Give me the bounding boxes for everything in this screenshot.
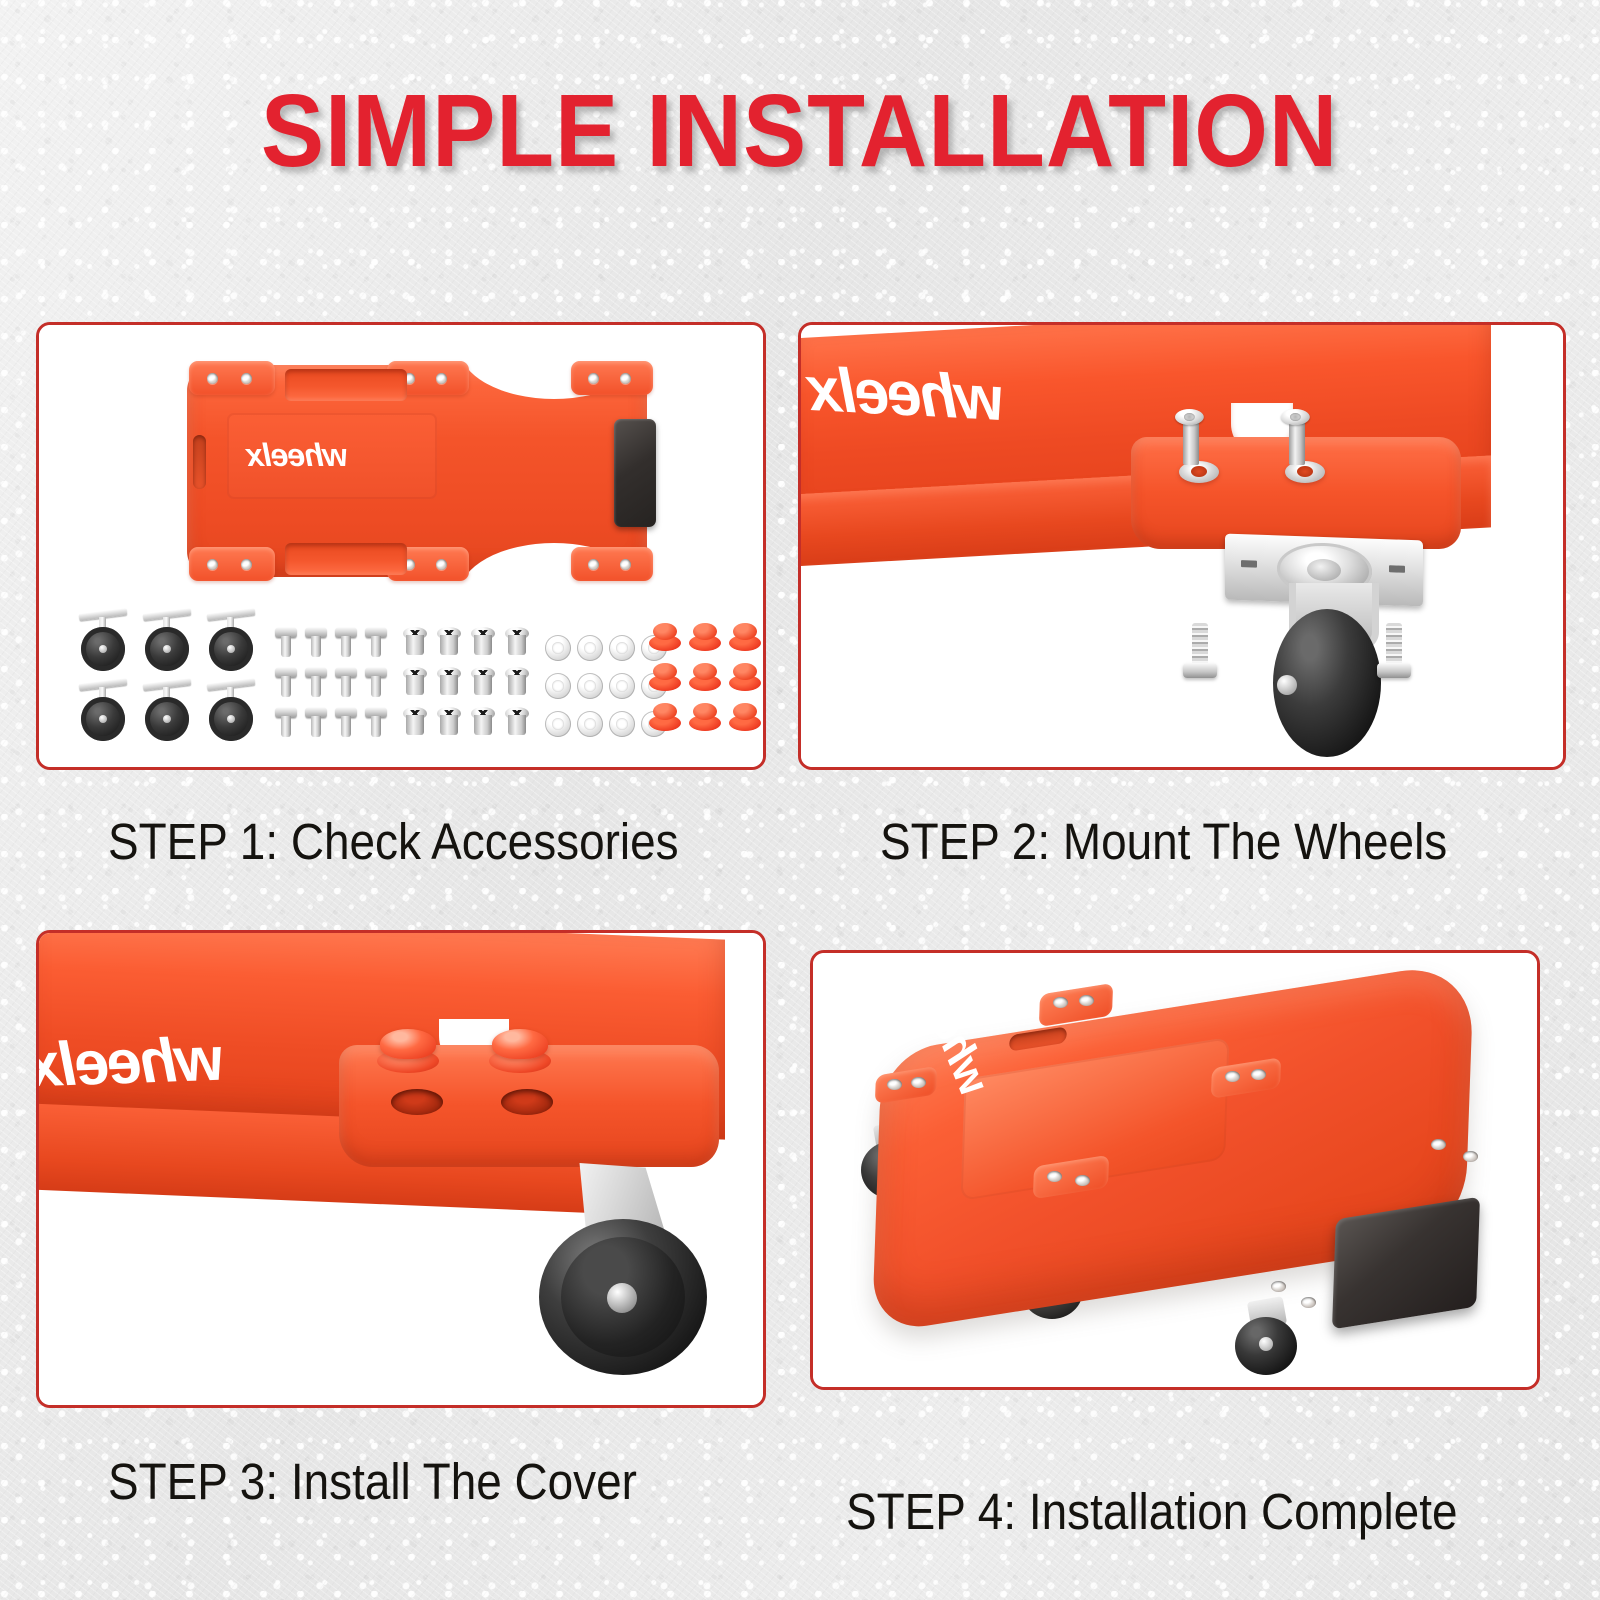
mount-hole — [1075, 1175, 1090, 1186]
bolt-head — [1175, 409, 1204, 425]
loose-bolt — [1183, 623, 1217, 681]
mounting-bolt — [1281, 409, 1313, 465]
caster-wheel-mounted — [1269, 583, 1385, 759]
cap-dome — [653, 623, 677, 640]
screw-shaft — [281, 636, 291, 657]
caster-wheel-part — [141, 681, 193, 739]
bolt-head — [1377, 663, 1411, 678]
cap-dome — [653, 663, 677, 680]
screw-part — [335, 707, 357, 737]
screw-shaft — [371, 676, 381, 697]
mount-hole — [1053, 997, 1068, 1008]
screw-shaft — [311, 636, 321, 657]
washer-part — [609, 673, 635, 699]
bolt-head — [1281, 409, 1310, 425]
open-bolt-hole — [501, 1089, 553, 1115]
red-cap-part — [689, 623, 721, 651]
cap-dome — [693, 703, 717, 720]
red-cap-part — [689, 703, 721, 731]
cap-dome — [733, 703, 757, 720]
step-1-image-panel: wheelx — [36, 322, 766, 770]
caster-hub — [99, 715, 107, 723]
step-4-photo: wheelx — [813, 953, 1537, 1387]
mount-hole — [1225, 1071, 1240, 1082]
mount-hole — [1431, 1139, 1446, 1150]
nut-part — [471, 667, 495, 695]
step-1-photo: wheelx — [39, 325, 763, 767]
nut-body — [440, 715, 458, 735]
nut-body — [406, 715, 424, 735]
screw-shaft — [281, 716, 291, 737]
nut-part — [403, 667, 427, 695]
bolt-shank — [1289, 421, 1305, 465]
finished-creeper: wheelx — [853, 975, 1513, 1375]
accessory-kit — [53, 605, 753, 755]
mount-pad-top-left — [189, 361, 275, 395]
mount-hole — [436, 559, 447, 570]
step-3-caption: STEP 3: Install The Cover — [108, 1452, 637, 1511]
mount-hole — [620, 559, 631, 570]
washer-part — [545, 673, 571, 699]
cap-dome — [380, 1029, 436, 1059]
mount-hole — [1301, 1297, 1316, 1308]
mount-hole — [207, 559, 218, 570]
mount-hole — [436, 373, 447, 384]
screw-shaft — [281, 676, 291, 697]
mount-hole — [887, 1079, 902, 1090]
nut-body — [406, 675, 424, 695]
screw-shaft — [341, 716, 351, 737]
nut-part — [471, 707, 495, 735]
cap-dome — [693, 663, 717, 680]
mount-hole — [1251, 1069, 1266, 1080]
screw-shaft — [311, 716, 321, 737]
screw-shaft — [341, 636, 351, 657]
screw-part — [335, 627, 357, 657]
washer-part — [577, 635, 603, 661]
cap-dome — [492, 1029, 548, 1059]
mount-hole — [911, 1077, 926, 1088]
nut-body — [474, 715, 492, 735]
bolt-thread — [1386, 623, 1402, 667]
bolt-thread — [1192, 623, 1208, 667]
plate-bolt-slot — [1241, 560, 1257, 568]
screw-part — [365, 627, 387, 657]
caster-wheel-mounted — [539, 1163, 711, 1375]
red-cap-part — [729, 623, 761, 651]
recessed-tray-top — [285, 369, 407, 401]
plate-bolt-slot — [1389, 565, 1405, 573]
cap-dome — [693, 623, 717, 640]
screw-part — [365, 667, 387, 697]
washer-part — [545, 711, 571, 737]
red-cap-part — [649, 663, 681, 691]
step-2-photo: wheelx — [801, 325, 1563, 767]
mount-hole — [1047, 1171, 1062, 1182]
mount-pad-top-right — [571, 361, 653, 395]
caster-wheel-part — [77, 611, 129, 669]
mount-hole — [241, 559, 252, 570]
caster-wheel-part — [205, 611, 257, 669]
caster-axle — [607, 1283, 637, 1313]
mount-pad-bottom-right — [571, 547, 653, 581]
nut-part — [403, 627, 427, 655]
nut-body — [474, 635, 492, 655]
caster-axle — [1277, 675, 1297, 695]
open-bolt-hole — [391, 1089, 443, 1115]
mount-hole — [588, 373, 599, 384]
nut-body — [474, 675, 492, 695]
washer-part — [577, 711, 603, 737]
bolt-shank — [1183, 421, 1199, 465]
step-2-caption: STEP 2: Mount The Wheels — [880, 812, 1447, 871]
screw-shaft — [341, 676, 351, 697]
red-cap-part — [649, 703, 681, 731]
red-cap-being-installed — [489, 1029, 551, 1075]
caster-hub — [99, 645, 107, 653]
step-4-caption: STEP 4: Installation Complete — [846, 1482, 1457, 1541]
mounting-bolt — [1175, 409, 1207, 465]
screw-part — [365, 707, 387, 737]
mount-hole — [1463, 1151, 1478, 1162]
creeper-board-underside: wheelx — [159, 347, 674, 595]
screw-part — [305, 667, 327, 697]
nut-part — [505, 707, 529, 735]
caster-hub — [163, 715, 171, 723]
step-4-image-panel: wheelx — [810, 950, 1540, 1390]
brand-logo-text: wheelx — [247, 437, 348, 474]
step-3-image-panel: wheelx — [36, 930, 766, 1408]
nut-body — [440, 635, 458, 655]
caster-wheel-part — [141, 611, 193, 669]
mount-hole — [1079, 995, 1094, 1006]
caster-hub — [227, 645, 235, 653]
nut-part — [471, 627, 495, 655]
screw-part — [305, 707, 327, 737]
nut-body — [508, 635, 526, 655]
nut-part — [505, 627, 529, 655]
nut-body — [406, 635, 424, 655]
mount-hole — [241, 373, 252, 384]
nut-body — [440, 675, 458, 695]
cap-dome — [733, 623, 757, 640]
red-cap-part — [649, 623, 681, 651]
recessed-tray-bottom — [285, 543, 407, 575]
red-cap-being-installed — [377, 1029, 439, 1075]
mount-hole — [1271, 1281, 1286, 1292]
red-cap-part — [689, 663, 721, 691]
step-3-photo: wheelx — [39, 933, 763, 1405]
nut-part — [505, 667, 529, 695]
screw-part — [305, 627, 327, 657]
brand-logo-text: wheelx — [809, 354, 1004, 435]
carry-handle-slot — [193, 435, 206, 489]
step-1-caption: STEP 1: Check Accessories — [108, 812, 679, 871]
cap-dome — [653, 703, 677, 720]
caster-wheel-mounted — [1235, 1299, 1301, 1375]
caster-hub — [163, 645, 171, 653]
bolt-head — [1183, 663, 1217, 678]
washer-part — [609, 635, 635, 661]
caster-hub — [227, 715, 235, 723]
screw-part — [335, 667, 357, 697]
screw-shaft — [371, 716, 381, 737]
step-2-image-panel: wheelx — [798, 322, 1566, 770]
logo-plate: wheelx — [227, 413, 437, 499]
screw-shaft — [311, 676, 321, 697]
nut-part — [403, 707, 427, 735]
nut-part — [437, 627, 461, 655]
loose-bolt — [1377, 623, 1411, 681]
mount-hole — [207, 373, 218, 384]
nut-body — [508, 675, 526, 695]
washer-part — [545, 635, 571, 661]
headrest-pad — [1332, 1197, 1480, 1330]
nut-body — [508, 715, 526, 735]
mount-hole — [588, 559, 599, 570]
red-cap-part — [729, 703, 761, 731]
caster-hub — [1259, 1337, 1273, 1351]
screw-part — [275, 627, 297, 657]
caster-wheel-part — [205, 681, 257, 739]
mount-pad-bottom-left — [189, 547, 275, 581]
washer-part — [577, 673, 603, 699]
brand-logo-text: wheelx — [36, 1024, 224, 1102]
page-title: SIMPLE INSTALLATION — [0, 72, 1600, 190]
screw-shaft — [371, 636, 381, 657]
nut-part — [437, 707, 461, 735]
nut-part — [437, 667, 461, 695]
washer-part — [609, 711, 635, 737]
cap-dome — [733, 663, 757, 680]
screw-part — [275, 667, 297, 697]
red-cap-part — [729, 663, 761, 691]
mount-hole — [620, 373, 631, 384]
page-title-text: SIMPLE INSTALLATION — [261, 72, 1338, 190]
screw-part — [275, 707, 297, 737]
headrest-pad — [614, 419, 656, 527]
caster-wheel-part — [77, 681, 129, 739]
